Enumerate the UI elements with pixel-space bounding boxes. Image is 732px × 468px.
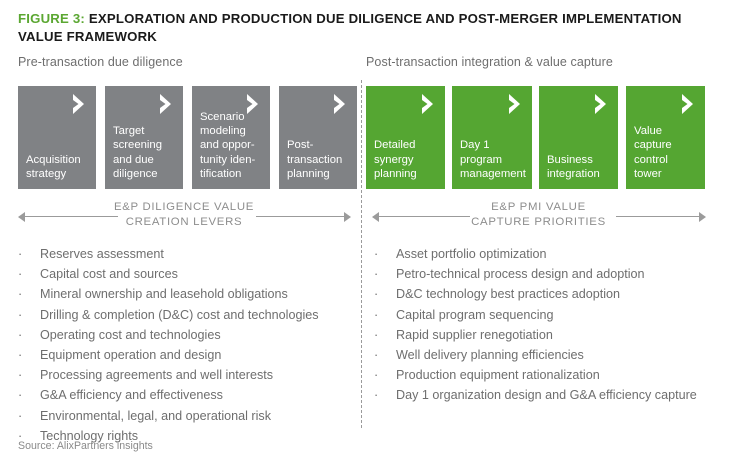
chevron-right-icon <box>420 93 437 115</box>
source-note: Source: AlixPartners insights <box>18 440 153 452</box>
stage-label: Value capture control tower <box>634 124 697 181</box>
list-item: ·Processing agreements and well interest… <box>18 365 348 385</box>
band-label: E&P DILIGENCE VALUE CREATION LEVERS <box>18 200 350 229</box>
list-item: ·Asset portfolio optimization <box>374 244 714 264</box>
bullet-dot-icon: · <box>374 305 396 325</box>
list-item: ·Mineral ownership and leasehold obligat… <box>18 284 348 304</box>
list-item: ·Operating cost and technologies <box>18 325 348 345</box>
stage-label: Business integration <box>547 153 610 181</box>
list-item: ·D&C technology best practices adoption <box>374 284 714 304</box>
band-label-line1: E&P PMI VALUE <box>372 200 705 215</box>
stage-label: Acquisition strategy <box>26 153 88 181</box>
stage-box-post-transaction-planning[interactable]: Post-transaction planning <box>279 86 357 189</box>
list-item-label: Day 1 organization design and G&A effici… <box>396 385 697 405</box>
bullet-dot-icon: · <box>18 345 40 365</box>
pmi-value-priorities-list: ·Asset portfolio optimization ·Petro-tec… <box>374 244 714 406</box>
stage-box-acquisition-strategy[interactable]: Acquisition strategy <box>18 86 96 189</box>
bullet-dot-icon: · <box>374 244 396 264</box>
stage-label: Target screening and due diligence <box>113 124 175 181</box>
stage-box-business-integration[interactable]: Business integration <box>539 86 618 189</box>
stage-box-value-capture-control-tower[interactable]: Value capture control tower <box>626 86 705 189</box>
list-item: ·Environmental, legal, and operational r… <box>18 406 348 426</box>
list-item-label: Production equipment rationalization <box>396 365 600 385</box>
bullet-dot-icon: · <box>374 345 396 365</box>
bullet-dot-icon: · <box>374 385 396 405</box>
list-item-label: Reserves assessment <box>40 244 164 264</box>
stage-label: Day 1 program management <box>460 138 526 181</box>
band-label-line2: CAPTURE PRIORITIES <box>372 215 705 230</box>
list-item-label: Equipment operation and design <box>40 345 221 365</box>
list-item-label: Rapid supplier renegotiation <box>396 325 553 345</box>
bullet-dot-icon: · <box>374 264 396 284</box>
stage-box-scenario-modeling[interactable]: Scenario modeling and oppor-tunity iden-… <box>192 86 270 189</box>
bullet-dot-icon: · <box>18 305 40 325</box>
bullet-dot-icon: · <box>18 244 40 264</box>
list-item-label: Petro-technical process design and adopt… <box>396 264 645 284</box>
bullet-dot-icon: · <box>18 385 40 405</box>
band-pmi-value-priorities: E&P PMI VALUE CAPTURE PRIORITIES <box>372 200 705 234</box>
list-item-label: Mineral ownership and leasehold obligati… <box>40 284 288 304</box>
section-divider <box>361 80 362 428</box>
stage-label: Detailed synergy planning <box>374 138 437 181</box>
bullet-dot-icon: · <box>18 406 40 426</box>
list-item-label: Asset portfolio optimization <box>396 244 547 264</box>
bullet-dot-icon: · <box>18 284 40 304</box>
list-item: ·Petro-technical process design and adop… <box>374 264 714 284</box>
list-item: ·Day 1 organization design and G&A effic… <box>374 385 714 405</box>
chevron-right-icon <box>680 93 697 115</box>
stage-box-day-1-program-management[interactable]: Day 1 program management <box>452 86 532 189</box>
bullet-dot-icon: · <box>374 325 396 345</box>
band-label: E&P PMI VALUE CAPTURE PRIORITIES <box>372 200 705 229</box>
diligence-value-levers-list: ·Reserves assessment ·Capital cost and s… <box>18 244 348 446</box>
list-item-label: Capital cost and sources <box>40 264 178 284</box>
chevron-right-icon <box>332 93 349 115</box>
bullet-dot-icon: · <box>374 284 396 304</box>
list-item-label: G&A efficiency and effectiveness <box>40 385 223 405</box>
chevron-right-icon <box>593 93 610 115</box>
list-item-label: Well delivery planning efficiencies <box>396 345 584 365</box>
bullet-dot-icon: · <box>18 365 40 385</box>
list-item-label: Processing agreements and well interests <box>40 365 273 385</box>
band-label-line1: E&P DILIGENCE VALUE <box>18 200 350 215</box>
list-item-label: Drilling & completion (D&C) cost and tec… <box>40 305 319 325</box>
list-item: ·Production equipment rationalization <box>374 365 714 385</box>
list-item-label: D&C technology best practices adoption <box>396 284 620 304</box>
bullet-dot-icon: · <box>18 264 40 284</box>
list-item: ·Well delivery planning efficiencies <box>374 345 714 365</box>
chevron-right-icon <box>507 93 524 115</box>
list-item-label: Capital program sequencing <box>396 305 554 325</box>
bullet-dot-icon: · <box>374 365 396 385</box>
band-label-line2: CREATION LEVERS <box>18 215 350 230</box>
list-item-label: Environmental, legal, and operational ri… <box>40 406 271 426</box>
list-item: ·Capital cost and sources <box>18 264 348 284</box>
list-item: ·Drilling & completion (D&C) cost and te… <box>18 305 348 325</box>
stage-label: Scenario modeling and oppor-tunity iden-… <box>200 110 262 181</box>
bullet-dot-icon: · <box>18 325 40 345</box>
chevron-right-icon <box>71 93 88 115</box>
list-item: ·Reserves assessment <box>18 244 348 264</box>
stage-box-detailed-synergy-planning[interactable]: Detailed synergy planning <box>366 86 445 189</box>
list-item: ·Equipment operation and design <box>18 345 348 365</box>
list-item: ·G&A efficiency and effectiveness <box>18 385 348 405</box>
list-item-label: Operating cost and technologies <box>40 325 221 345</box>
chevron-right-icon <box>158 93 175 115</box>
stage-label: Post-transaction planning <box>287 138 349 181</box>
list-item: ·Rapid supplier renegotiation <box>374 325 714 345</box>
stage-box-target-screening[interactable]: Target screening and due diligence <box>105 86 183 189</box>
band-diligence-value-levers: E&P DILIGENCE VALUE CREATION LEVERS <box>18 200 350 234</box>
list-item: ·Capital program sequencing <box>374 305 714 325</box>
